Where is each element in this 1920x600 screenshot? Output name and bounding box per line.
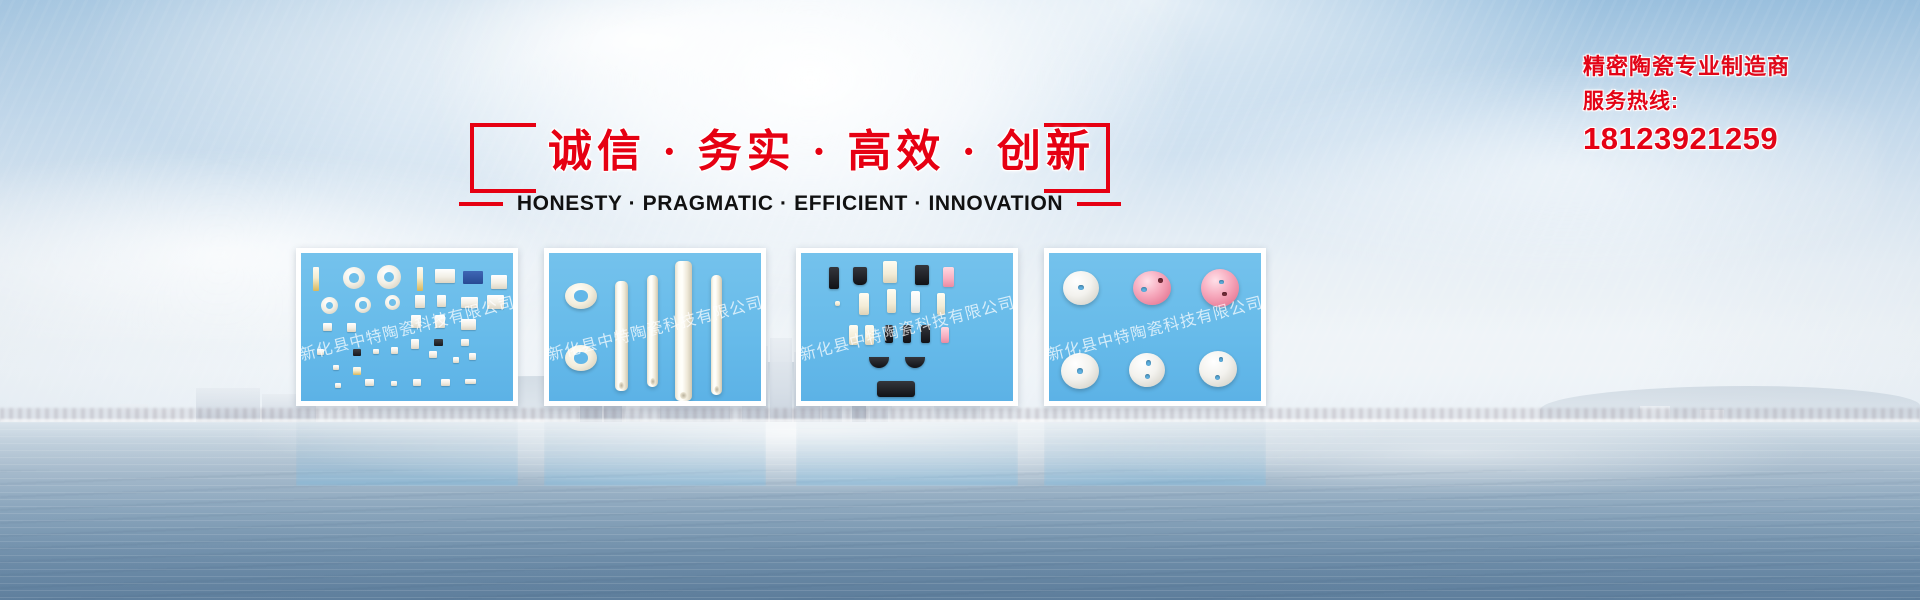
ceramic-part xyxy=(885,325,893,343)
ceramic-part xyxy=(647,275,658,387)
ceramic-part xyxy=(937,293,945,315)
reflection-streaks xyxy=(796,408,1018,486)
ceramic-part xyxy=(441,379,450,386)
ceramic-part xyxy=(1061,353,1099,389)
ceramic-part xyxy=(915,265,929,285)
product-photo: 新化县中特陶瓷科技有限公司 xyxy=(1049,253,1261,401)
ceramic-part xyxy=(415,295,425,308)
ceramic-part xyxy=(355,297,371,313)
ceramic-part xyxy=(434,339,443,346)
product-panel-structural-ceramic-parts[interactable]: 新化县中特陶瓷科技有限公司 xyxy=(796,248,1018,406)
ceramic-part xyxy=(883,261,897,283)
ceramic-part xyxy=(849,325,858,345)
ceramic-part xyxy=(461,297,478,308)
slogan-english-row: HONESTY · PRAGMATIC · EFFICIENT · INNOVA… xyxy=(460,187,1120,221)
ceramic-part xyxy=(911,291,920,313)
ceramic-part xyxy=(347,323,356,332)
product-photo: 新化县中特陶瓷科技有限公司 xyxy=(801,253,1013,401)
ceramic-part xyxy=(829,267,839,289)
ceramic-part xyxy=(565,283,597,309)
ceramic-part xyxy=(865,325,874,345)
ceramic-part xyxy=(487,295,504,309)
ceramic-part xyxy=(675,261,692,401)
ceramic-part xyxy=(411,315,421,328)
ceramic-part xyxy=(437,295,446,307)
ceramic-part xyxy=(321,297,338,314)
ceramic-part xyxy=(615,281,628,391)
ceramic-part xyxy=(377,265,401,289)
bracket-left-decoration xyxy=(470,123,536,193)
ceramic-part xyxy=(877,381,915,397)
ceramic-part xyxy=(465,379,476,384)
ceramic-part xyxy=(887,289,896,313)
product-panel-ceramic-eyelets-discs[interactable]: 新化县中特陶瓷科技有限公司 xyxy=(1044,248,1266,406)
ceramic-part xyxy=(323,323,332,331)
ceramic-part xyxy=(365,379,374,386)
product-panel-ceramic-tubes-rods[interactable]: 新化县中特陶瓷科技有限公司 xyxy=(544,248,766,406)
ceramic-part xyxy=(463,271,483,284)
ceramic-part xyxy=(491,275,507,289)
slogan-block: 诚信 · 务实 · 高效 · 创新 HONESTY · PRAGMATIC · … xyxy=(470,105,1110,215)
ceramic-part xyxy=(903,325,911,343)
product-photo: 新化县中特陶瓷科技有限公司 xyxy=(549,253,761,401)
ceramic-part-hole xyxy=(1158,278,1163,282)
ceramic-part-hole xyxy=(1222,292,1227,297)
ceramic-part xyxy=(353,367,361,375)
ceramic-part xyxy=(1133,271,1171,305)
ceramic-part xyxy=(391,347,398,354)
ceramic-part xyxy=(373,349,379,354)
ceramic-part xyxy=(411,339,419,349)
ceramic-part xyxy=(943,267,954,287)
ceramic-part xyxy=(391,381,397,386)
rule-right-decoration xyxy=(1077,202,1121,206)
panel-reflection-2 xyxy=(544,408,766,486)
ceramic-part xyxy=(429,351,437,358)
reflection-streaks xyxy=(544,408,766,486)
reflection-streaks xyxy=(1044,408,1266,486)
ceramic-part xyxy=(869,357,889,368)
ceramic-part-hole xyxy=(1077,368,1082,373)
slogan-english: HONESTY · PRAGMATIC · EFFICIENT · INNOVA… xyxy=(517,192,1063,216)
panel-reflection-3 xyxy=(796,408,1018,486)
reflection-streaks xyxy=(296,408,518,486)
ceramic-part xyxy=(921,325,930,343)
ceramic-part-hole xyxy=(1078,285,1083,290)
ceramic-part xyxy=(453,357,459,363)
ceramic-part xyxy=(1201,269,1239,307)
slogan-chinese: 诚信 · 务实 · 高效 · 创新 xyxy=(548,113,1032,191)
ceramic-part xyxy=(853,267,867,285)
ceramic-part-hole xyxy=(1141,287,1147,293)
ceramic-part xyxy=(413,379,421,386)
water-ripples-secondary xyxy=(0,470,1920,600)
ceramic-part xyxy=(333,365,339,370)
hotline-label: 服务热线: xyxy=(1583,84,1843,120)
ceramic-part xyxy=(461,339,469,346)
hero-banner: 诚信 · 务实 · 高效 · 创新 HONESTY · PRAGMATIC · … xyxy=(0,0,1920,600)
ceramic-part xyxy=(711,275,722,395)
ceramic-part-hole xyxy=(1215,375,1220,380)
ceramic-part xyxy=(1199,351,1237,387)
ceramic-part xyxy=(905,357,925,368)
ceramic-part xyxy=(941,327,949,343)
ceramic-part-hole xyxy=(1219,280,1224,285)
ceramic-part xyxy=(835,301,840,306)
rule-left-decoration xyxy=(459,202,503,206)
ceramic-part xyxy=(1063,271,1099,305)
company-tagline: 精密陶瓷专业制造商 xyxy=(1583,50,1843,84)
panel-reflection-4 xyxy=(1044,408,1266,486)
product-panels: 新化县中特陶瓷科技有限公司 新化县中特陶瓷科技有限公司 xyxy=(296,248,1528,406)
panel-reflection-1 xyxy=(296,408,518,486)
ceramic-part xyxy=(461,319,476,330)
ceramic-part xyxy=(565,345,597,371)
ceramic-part xyxy=(1129,353,1165,387)
contact-block: 精密陶瓷专业制造商 服务热线: 18123921259 xyxy=(1583,50,1843,158)
ceramic-part xyxy=(313,267,319,291)
product-panel-smd-chip-components[interactable]: 新化县中特陶瓷科技有限公司 xyxy=(296,248,518,406)
panel-reflections xyxy=(296,408,1528,486)
ceramic-part xyxy=(435,315,445,328)
ceramic-part xyxy=(353,349,361,356)
product-photo: 新化县中特陶瓷科技有限公司 xyxy=(301,253,513,401)
ceramic-part-hole xyxy=(1146,360,1151,365)
ceramic-part xyxy=(335,383,341,388)
ceramic-part xyxy=(385,295,400,310)
hotline-phone[interactable]: 18123921259 xyxy=(1583,120,1843,158)
ceramic-part xyxy=(435,269,455,283)
ceramic-part-hole xyxy=(1145,374,1150,379)
ceramic-part xyxy=(859,293,869,315)
ceramic-part xyxy=(469,353,476,360)
ceramic-part xyxy=(317,349,324,355)
ceramic-part xyxy=(417,267,423,291)
ceramic-part xyxy=(343,267,365,289)
ceramic-part-hole xyxy=(1219,357,1224,362)
